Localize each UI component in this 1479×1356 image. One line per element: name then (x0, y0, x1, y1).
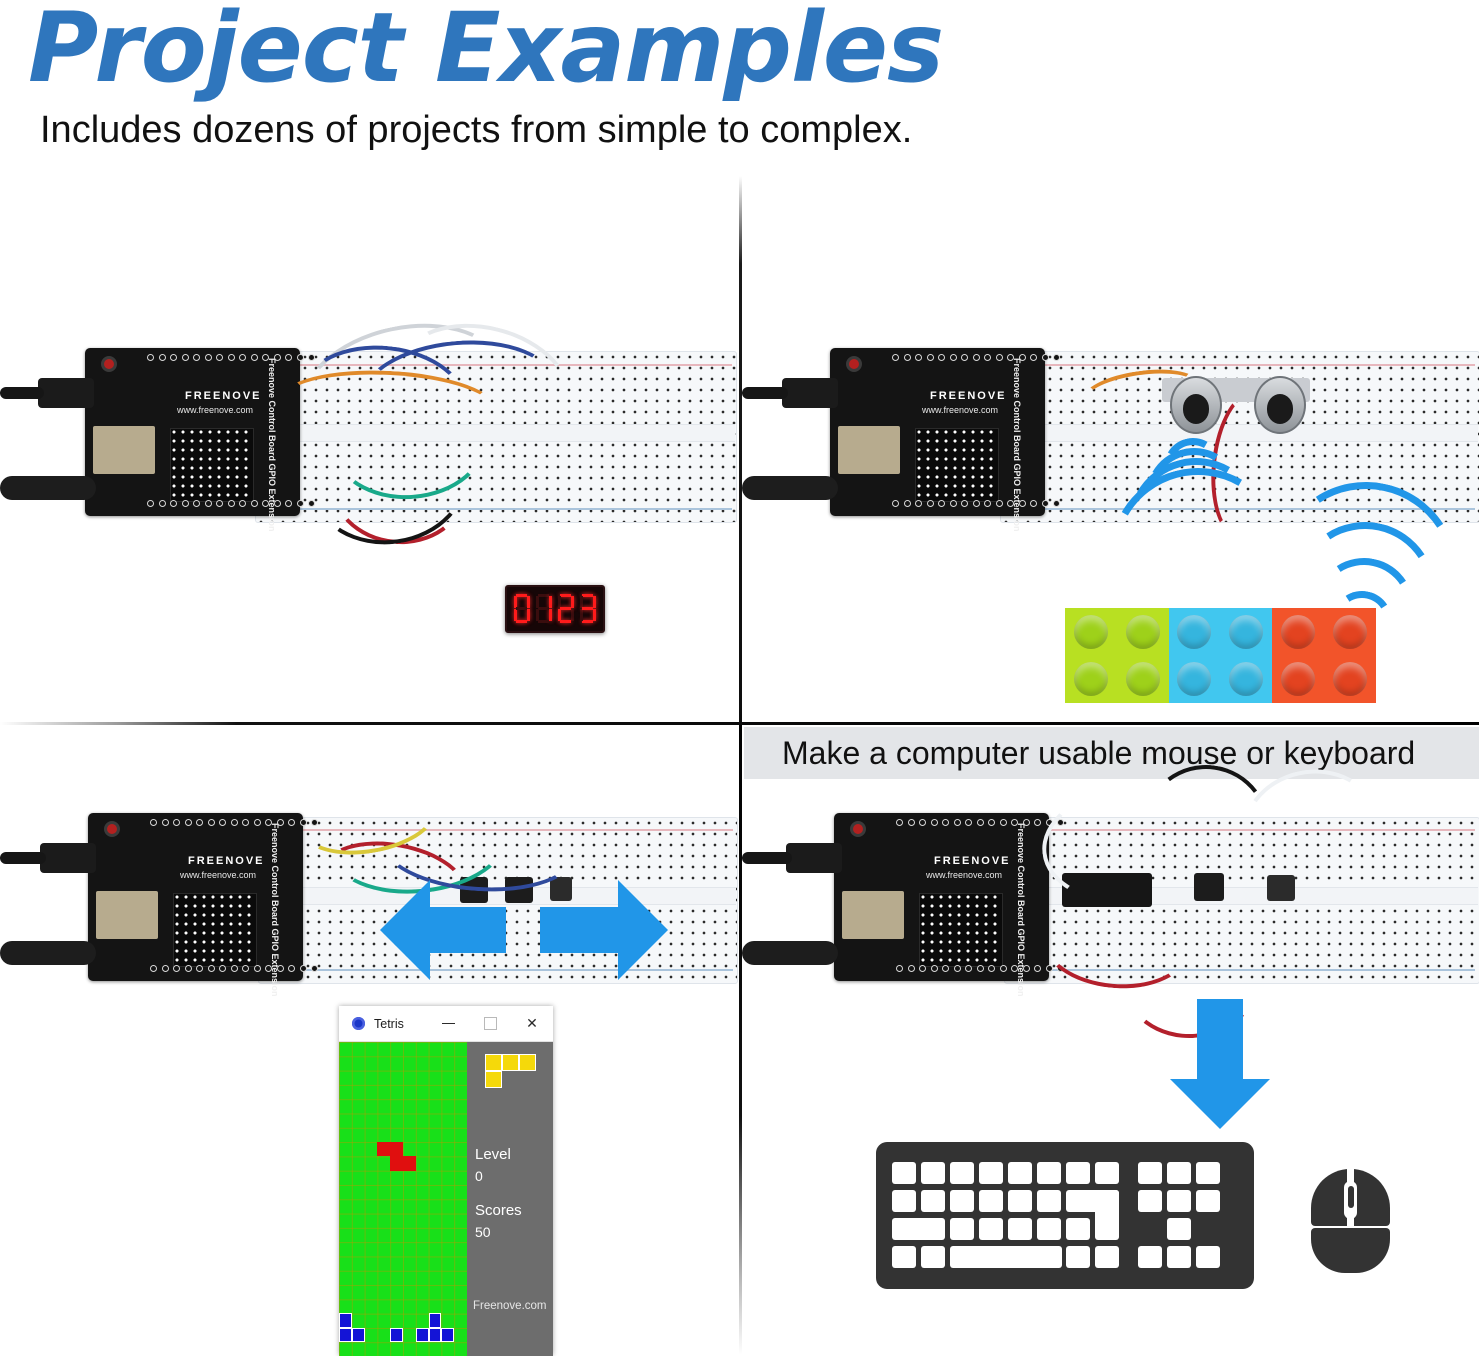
keyboard-key (1167, 1246, 1191, 1268)
tetris-scores-label: Scores (475, 1202, 522, 1219)
project-panel-seven-segment: FREENOVE www.freenove.com Freenove Contr… (0, 176, 739, 722)
board-side-label: Freenove Control Board GPIO Extension (1012, 358, 1022, 532)
gpio-header-bottom[interactable] (892, 500, 1060, 507)
esp32-module (93, 426, 155, 474)
tetris-next-cell (485, 1071, 502, 1088)
freenove-control-board: FREENOVE www.freenove.com Freenove Contr… (88, 813, 303, 981)
lego-bricks-group (1065, 608, 1376, 703)
board-side-label: Freenove Control Board GPIO Extension (1016, 823, 1026, 997)
led-matrix (915, 428, 999, 502)
tetris-stack-cell (390, 1328, 403, 1342)
usb-plug (40, 843, 96, 873)
tetris-game-window[interactable]: Tetris ✕ (339, 1006, 553, 1355)
tetris-stack-cell (339, 1313, 352, 1327)
tetris-side-panel: Level 0 Scores 50 Freenove.com (467, 1042, 553, 1356)
keyboard-key (1008, 1190, 1032, 1212)
tetris-stack-cell (352, 1328, 365, 1342)
tetris-active-cell (390, 1156, 403, 1170)
keyboard-key (1138, 1190, 1162, 1212)
seven-segment-digit-2 (534, 593, 554, 625)
freenove-control-board: FREENOVE www.freenove.com Freenove Contr… (85, 348, 300, 516)
keyboard-key (1037, 1190, 1061, 1212)
tetris-body: Level 0 Scores 50 Freenove.com (339, 1042, 553, 1356)
tetris-next-cell (519, 1054, 536, 1071)
tetris-active-cell (377, 1142, 390, 1156)
board-side-label: Freenove Control Board GPIO Extension (270, 823, 280, 997)
tetris-stack-cell (441, 1328, 454, 1342)
tetris-next-cell (502, 1054, 519, 1071)
board-logo-text: FREENOVE (934, 855, 1011, 867)
power-barrel-jack (742, 476, 838, 500)
led-matrix (919, 893, 1003, 967)
keyboard-key (979, 1218, 1003, 1240)
keyboard-key (1167, 1190, 1191, 1212)
keyboard-key (1167, 1162, 1191, 1184)
keyboard-key (1066, 1162, 1090, 1184)
tetris-stack-cell (339, 1328, 352, 1342)
power-barrel-jack (0, 941, 96, 965)
keyboard-key (892, 1246, 916, 1268)
keyboard-key (921, 1190, 945, 1212)
led-matrix (173, 893, 257, 967)
keyboard-key (892, 1162, 916, 1184)
tetris-playfield[interactable] (339, 1042, 467, 1356)
board-logo-text: FREENOVE (188, 855, 265, 867)
breadboard-positive-rail (1003, 364, 1475, 366)
tetris-stack-cell (429, 1328, 442, 1342)
freenove-control-board: FREENOVE www.freenove.com Freenove Contr… (830, 348, 1045, 516)
page-title: Project Examples (28, 0, 943, 100)
usb-cable (0, 852, 46, 864)
tetris-watermark: Freenove.com (473, 1300, 547, 1312)
reset-button[interactable] (101, 356, 117, 372)
gpio-header-top[interactable] (147, 354, 315, 361)
tetris-stack-cell (429, 1313, 442, 1327)
reset-button[interactable] (846, 356, 862, 372)
page-subtitle: Includes dozens of projects from simple … (40, 108, 912, 152)
keyboard-key (1008, 1218, 1032, 1240)
mouse-bottom-shell (1311, 1228, 1390, 1273)
keyboard-illustration (876, 1142, 1254, 1289)
seven-segment-digit-3 (556, 593, 576, 625)
keyboard-key-enter-tail (1095, 1190, 1119, 1240)
window-controls[interactable]: ✕ (427, 1006, 553, 1041)
reset-button[interactable] (850, 821, 866, 837)
keyboard-key (1095, 1246, 1119, 1268)
keyboard-key (1138, 1246, 1162, 1268)
freenove-control-board: FREENOVE www.freenove.com Freenove Contr… (834, 813, 1049, 981)
reset-button[interactable] (104, 821, 120, 837)
tetris-app-title: Tetris (374, 1017, 404, 1031)
seven-segment-digit-4 (578, 593, 598, 625)
usb-cable (742, 387, 788, 399)
usb-cable (0, 387, 44, 399)
keyboard-key (1167, 1218, 1191, 1240)
board-url-text: www.freenove.com (180, 870, 256, 880)
keyboard-key-shift (892, 1218, 945, 1240)
keyboard-key (979, 1162, 1003, 1184)
page-header: Project Examples Includes dozens of proj… (0, 0, 1479, 176)
keyboard-key (1138, 1162, 1162, 1184)
keyboard-key (1196, 1190, 1220, 1212)
board-logo-text: FREENOVE (930, 390, 1007, 402)
gpio-header-bottom[interactable] (150, 965, 318, 972)
keyboard-key (1196, 1162, 1220, 1184)
gpio-header-top[interactable] (150, 819, 318, 826)
tetris-active-cell (390, 1142, 403, 1156)
tetris-next-cell (485, 1054, 502, 1071)
seven-segment-digit-1 (512, 593, 532, 625)
board-url-text: www.freenove.com (926, 870, 1002, 880)
lego-brick-blue (1169, 608, 1273, 703)
keyboard-key (1066, 1218, 1090, 1240)
board-url-text: www.freenove.com (922, 405, 998, 415)
usb-plug (782, 378, 838, 408)
keyboard-key (892, 1190, 916, 1212)
pushbutton[interactable] (550, 877, 572, 901)
keyboard-key (1008, 1162, 1032, 1184)
esp32-module (838, 426, 900, 474)
gpio-header-top[interactable] (892, 354, 1060, 361)
keyboard-key (1037, 1218, 1061, 1240)
lego-brick-green (1065, 608, 1169, 703)
esp32-module (96, 891, 158, 939)
tetris-active-cell (403, 1156, 416, 1170)
mouse-illustration (1311, 1169, 1390, 1273)
esp32-module (842, 891, 904, 939)
maximize-button[interactable] (469, 1006, 511, 1041)
tetris-scores-value: 50 (475, 1224, 491, 1240)
tetris-level-label: Level (475, 1146, 511, 1163)
keyboard-key (950, 1162, 974, 1184)
tetris-titlebar[interactable]: Tetris ✕ (339, 1006, 553, 1042)
gpio-header-top[interactable] (896, 819, 1064, 826)
keyboard-key-space (950, 1246, 1062, 1268)
keyboard-key (979, 1190, 1003, 1212)
board-url-text: www.freenove.com (177, 405, 253, 415)
lego-brick-orange (1272, 608, 1376, 703)
power-barrel-jack (742, 941, 838, 965)
gpio-header-bottom[interactable] (896, 965, 1064, 972)
tetris-level-value: 0 (475, 1168, 483, 1184)
usb-plug (38, 378, 94, 408)
keyboard-key (1196, 1246, 1220, 1268)
keyboard-key (950, 1218, 974, 1240)
close-button[interactable]: ✕ (511, 1006, 553, 1041)
tetris-stack-cell (416, 1328, 429, 1342)
minimize-button[interactable] (427, 1006, 469, 1041)
tetris-app-icon (352, 1017, 365, 1030)
usb-plug (786, 843, 842, 873)
keyboard-key (1095, 1162, 1119, 1184)
usb-cable (742, 852, 792, 864)
keyboard-key (921, 1162, 945, 1184)
board-logo-text: FREENOVE (185, 390, 262, 402)
power-barrel-jack (0, 476, 96, 500)
seven-segment-display (505, 585, 605, 633)
keyboard-key (1037, 1162, 1061, 1184)
gpio-header-bottom[interactable] (147, 500, 315, 507)
board-side-label: Freenove Control Board GPIO Extension (267, 358, 277, 532)
keyboard-key (921, 1246, 945, 1268)
led-matrix (170, 428, 254, 502)
keyboard-key (1066, 1246, 1090, 1268)
keyboard-key (950, 1190, 974, 1212)
mouse-scroll-wheel (1344, 1181, 1357, 1219)
